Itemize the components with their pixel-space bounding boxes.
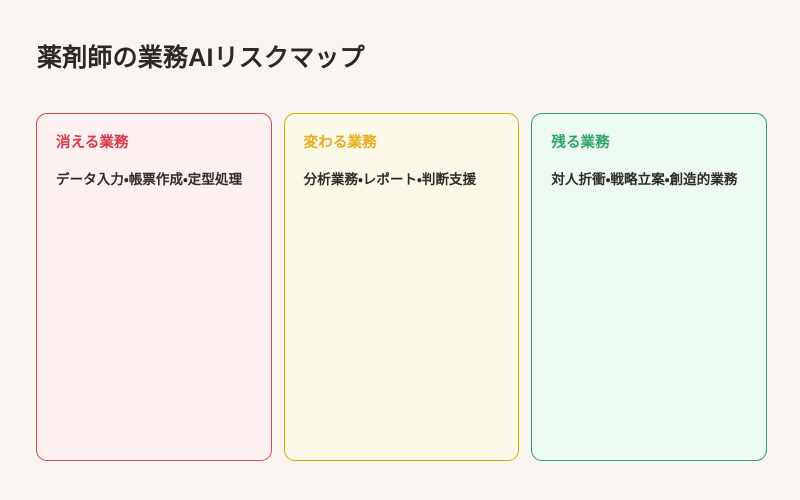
- risk-card-body: 対人折衝・戦略立案・創造的業務: [551, 168, 747, 191]
- risk-card-row: 消える業務 データ入力・帳票作成・定型処理 変わる業務 分析業務・レポート・判断…: [36, 113, 767, 461]
- risk-card-changing: 変わる業務 分析業務・レポート・判断支援: [284, 113, 520, 461]
- risk-card-disappearing: 消える業務 データ入力・帳票作成・定型処理: [36, 113, 272, 461]
- risk-card-body: 分析業務・レポート・判断支援: [304, 168, 500, 191]
- risk-map-page: 薬剤師の業務AIリスクマップ 消える業務 データ入力・帳票作成・定型処理 変わる…: [0, 0, 800, 500]
- risk-card-heading: 消える業務: [56, 134, 252, 154]
- risk-card-heading: 残る業務: [551, 134, 747, 154]
- page-title: 薬剤師の業務AIリスクマップ: [37, 42, 365, 75]
- risk-card-heading: 変わる業務: [304, 134, 500, 154]
- risk-card-body: データ入力・帳票作成・定型処理: [56, 168, 252, 191]
- risk-card-remaining: 残る業務 対人折衝・戦略立案・創造的業務: [531, 113, 767, 461]
